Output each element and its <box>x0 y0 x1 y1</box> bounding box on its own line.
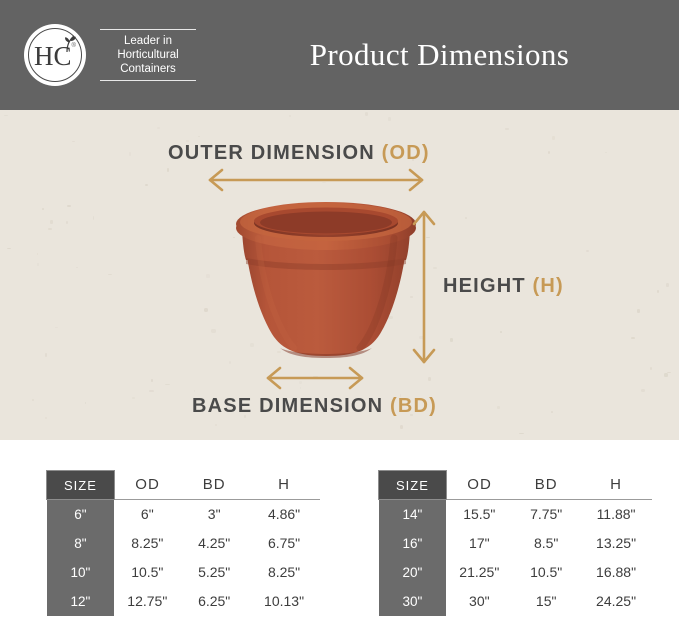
table-row: 8" 8.25" 4.25" 6.75" <box>47 529 321 558</box>
table-row: 14" 15.5" 7.75" 11.88" <box>379 500 653 529</box>
table-row: 30" 30" 15" 24.25" <box>379 587 653 616</box>
cell-od: 8.25" <box>114 529 180 558</box>
cell-bd: 7.75" <box>512 500 580 529</box>
table-header-row: SIZE OD BD H <box>47 471 321 500</box>
table-header-row: SIZE OD BD H <box>379 471 653 500</box>
cell-h: 8.25" <box>248 558 320 587</box>
column-header-od: OD <box>446 471 512 500</box>
cell-h: 11.88" <box>580 500 652 529</box>
column-header-od: OD <box>114 471 180 500</box>
cell-size: 6" <box>47 500 115 529</box>
cell-od: 12.75" <box>114 587 180 616</box>
dimension-table-right: SIZE OD BD H 14" 15.5" 7.75" 11.88" 16" … <box>378 470 652 616</box>
cell-h: 4.86" <box>248 500 320 529</box>
cell-h: 6.75" <box>248 529 320 558</box>
cell-size: 10" <box>47 558 115 587</box>
column-header-bd: BD <box>512 471 580 500</box>
cell-bd: 4.25" <box>180 529 248 558</box>
cell-od: 6" <box>114 500 180 529</box>
logo-tagline: Leader in Horticultural Containers <box>100 29 196 81</box>
bd-arrow-icon <box>268 368 362 388</box>
cell-size: 16" <box>379 529 447 558</box>
cell-size: 8" <box>47 529 115 558</box>
od-arrow-icon <box>210 170 422 190</box>
cell-bd: 8.5" <box>512 529 580 558</box>
cell-bd: 6.25" <box>180 587 248 616</box>
cell-bd: 15" <box>512 587 580 616</box>
table-row: 20" 21.25" 10.5" 16.88" <box>379 558 653 587</box>
page-header: HC ® Leader in Horticultural Containers … <box>0 0 679 110</box>
cell-od: 21.25" <box>446 558 512 587</box>
table-row: 16" 17" 8.5" 13.25" <box>379 529 653 558</box>
brand-logo: HC ® Leader in Horticultural Containers <box>24 24 196 86</box>
cell-size: 14" <box>379 500 447 529</box>
logo-circle-icon: HC ® <box>24 24 86 86</box>
leaf-sprig-icon <box>57 34 79 54</box>
table-row: 6" 6" 3" 4.86" <box>47 500 321 529</box>
dimension-tables: SIZE OD BD H 6" 6" 3" 4.86" 8" 8.25" 4.2… <box>0 470 679 636</box>
cell-size: 20" <box>379 558 447 587</box>
column-header-size: SIZE <box>379 471 447 500</box>
dimensions-diagram: OUTER DIMENSION (OD) HEIGHT (H) BASE DIM… <box>0 110 679 440</box>
cell-h: 16.88" <box>580 558 652 587</box>
logo-tagline-line-2: Horticultural <box>104 48 192 62</box>
cell-od: 30" <box>446 587 512 616</box>
height-arrow-icon <box>414 212 434 362</box>
column-header-h: H <box>248 471 320 500</box>
table-row: 10" 10.5" 5.25" 8.25" <box>47 558 321 587</box>
cell-bd: 10.5" <box>512 558 580 587</box>
cell-bd: 5.25" <box>180 558 248 587</box>
cell-size: 30" <box>379 587 447 616</box>
cell-bd: 3" <box>180 500 248 529</box>
logo-tagline-line-1: Leader in <box>104 34 192 48</box>
dimension-arrows <box>0 110 679 440</box>
cell-od: 17" <box>446 529 512 558</box>
table-row: 12" 12.75" 6.25" 10.13" <box>47 587 321 616</box>
cell-od: 10.5" <box>114 558 180 587</box>
column-header-size: SIZE <box>47 471 115 500</box>
dimension-table-left: SIZE OD BD H 6" 6" 3" 4.86" 8" 8.25" 4.2… <box>46 470 320 616</box>
cell-h: 13.25" <box>580 529 652 558</box>
column-header-h: H <box>580 471 652 500</box>
logo-tagline-line-3: Containers <box>104 62 192 76</box>
cell-h: 24.25" <box>580 587 652 616</box>
cell-size: 12" <box>47 587 115 616</box>
cell-h: 10.13" <box>248 587 320 616</box>
column-header-bd: BD <box>180 471 248 500</box>
cell-od: 15.5" <box>446 500 512 529</box>
